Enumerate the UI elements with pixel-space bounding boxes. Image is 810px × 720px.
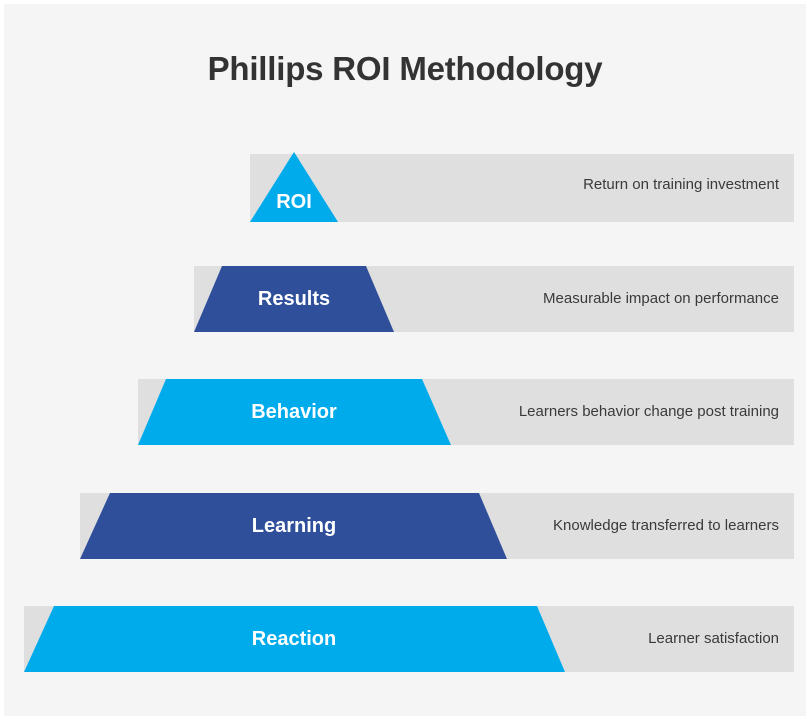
pyramid-level-results[interactable]: Results Measurable impact on performance	[4, 264, 806, 334]
pyramid-level-reaction[interactable]: Reaction Learner satisfaction	[4, 604, 806, 674]
level-label-reaction: Reaction	[234, 628, 354, 651]
pyramid-level-learning[interactable]: Learning Knowledge transferred to learne…	[4, 491, 806, 561]
level-description-roi: Return on training investment	[394, 176, 779, 193]
level-description-behavior: Learners behavior change post training	[394, 403, 779, 420]
level-description-reaction: Learner satisfaction	[394, 630, 779, 647]
pyramid-level-roi[interactable]: ROI Return on training investment	[4, 150, 806, 224]
level-label-results: Results	[234, 288, 354, 311]
pyramid-level-behavior[interactable]: Behavior Learners behavior change post t…	[4, 377, 806, 447]
level-label-roi: ROI	[254, 191, 334, 214]
level-label-behavior: Behavior	[234, 401, 354, 424]
diagram-canvas: Phillips ROI Methodology ROI Return on t…	[0, 0, 810, 720]
level-description-results: Measurable impact on performance	[394, 290, 779, 307]
page-title: Phillips ROI Methodology	[4, 50, 806, 88]
level-label-learning: Learning	[234, 515, 354, 538]
level-description-learning: Knowledge transferred to learners	[394, 517, 779, 534]
